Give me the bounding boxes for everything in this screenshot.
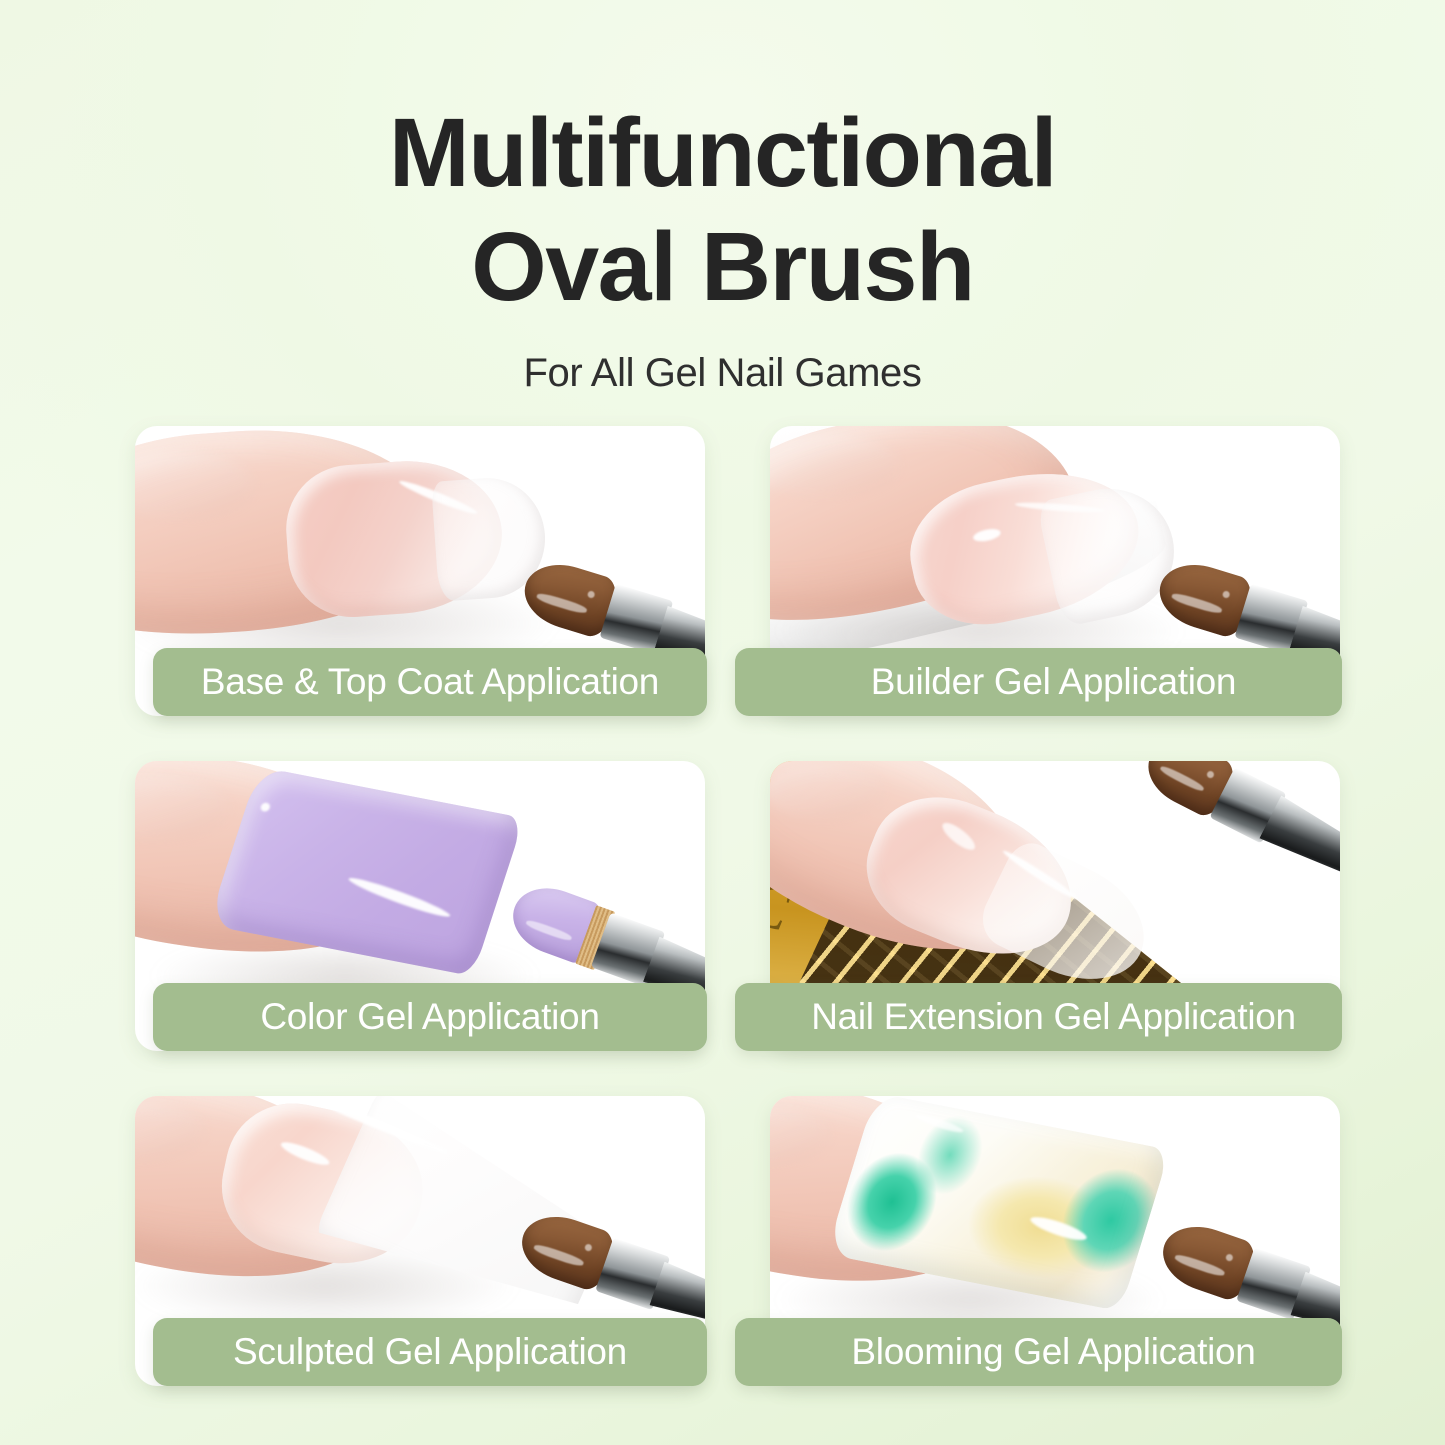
card-label-text: Sculpted Gel Application	[153, 1331, 707, 1373]
page-subtitle: For All Gel Nail Games	[0, 351, 1445, 396]
feature-card-color-gel: Color Gel Application	[135, 761, 705, 1051]
card-label-band: Color Gel Application	[153, 983, 707, 1051]
card-label-text: Builder Gel Application	[735, 661, 1342, 703]
title-line-2: Oval Brush	[120, 210, 1325, 324]
feature-card-grid: Base & Top Coat Application	[135, 426, 1340, 1386]
card-label-band: Nail Extension Gel Application	[735, 983, 1342, 1051]
card-label-band: Sculpted Gel Application	[153, 1318, 707, 1386]
header: Multifunctional Oval Brush For All Gel N…	[0, 96, 1445, 396]
feature-card-sculpted-gel: Sculpted Gel Application	[135, 1096, 705, 1386]
card-label-band: Blooming Gel Application	[735, 1318, 1342, 1386]
page-title: Multifunctional Oval Brush	[0, 96, 1445, 325]
card-label-band: Builder Gel Application	[735, 648, 1342, 716]
card-label-text: Blooming Gel Application	[735, 1331, 1342, 1373]
card-label-text: Color Gel Application	[153, 996, 707, 1038]
feature-card-blooming-gel: Blooming Gel Application	[770, 1096, 1340, 1386]
feature-card-builder-gel: Builder Gel Application	[770, 426, 1340, 716]
card-label-text: Nail Extension Gel Application	[735, 996, 1342, 1038]
feature-card-nail-extension: C	[770, 761, 1340, 1051]
feature-card-base-top-coat: Base & Top Coat Application	[135, 426, 705, 716]
title-line-1: Multifunctional	[120, 96, 1325, 210]
brush-illustration	[1116, 761, 1340, 937]
card-label-band: Base & Top Coat Application	[153, 648, 707, 716]
infographic-page: Multifunctional Oval Brush For All Gel N…	[0, 0, 1445, 1445]
card-label-text: Base & Top Coat Application	[153, 661, 707, 703]
